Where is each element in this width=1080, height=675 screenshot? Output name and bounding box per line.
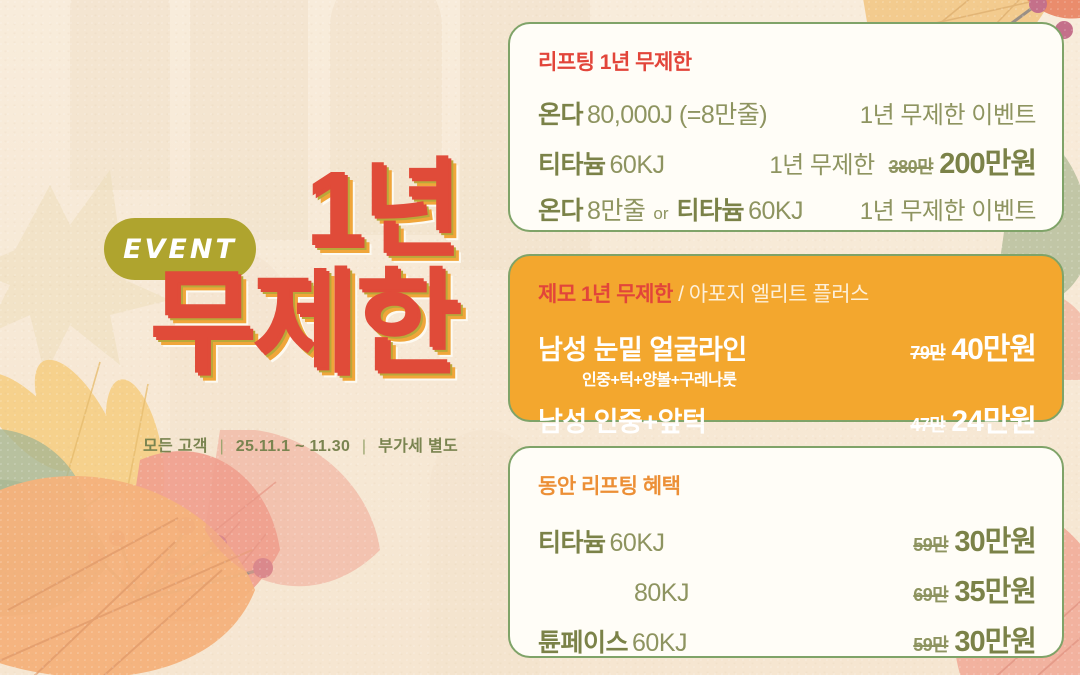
offer-row: 티타늄 60KJ 1년 무제한 380만 200만원 — [538, 140, 1036, 182]
offer-spec: 80,000J (=8만줄) — [587, 95, 767, 131]
headline-line-2: 무제한 — [0, 270, 458, 377]
offer-name: 튠페이스 — [538, 623, 628, 659]
card-rows-hair-removal: 남성 눈밑 얼굴라인 79만 40만원 인중+턱+양볼+구레나룻 남성 인중+앞… — [538, 318, 1036, 440]
offer-new-price: 35만원 — [954, 668, 1036, 675]
offer-name: 남성 인중+앞턱 — [538, 400, 706, 439]
meta-separator-1: | — [213, 438, 231, 455]
offer-new-price: 30만원 — [954, 518, 1036, 560]
offer-note: 1년 무제한 — [769, 145, 874, 180]
offer-row: 80KJ 69만 35만원 — [538, 568, 1036, 610]
meta-separator-2: | — [355, 438, 373, 455]
meta-period: 25.11.1 ~ 11.30 — [236, 438, 350, 455]
offer-spec: 60KJ — [632, 629, 687, 658]
offer-new-price: 35만원 — [954, 568, 1036, 610]
card-title-main: 리프팅 1년 무제한 — [538, 51, 692, 74]
offer-row: 튠페이스 60KJ 59만 30만원 — [538, 618, 1036, 660]
offer-card-lifting: 리프팅 1년 무제한 온다 80,000J (=8만줄) 1년 무제한 이벤트 … — [508, 22, 1064, 232]
offer-conjunction: or — [653, 204, 668, 224]
offer-name: 온다 — [538, 95, 583, 131]
offer-new-price: 200만원 — [939, 140, 1036, 182]
card-title-hair-removal: 제모 1년 무제한 / 아포지 엘리트 플러스 — [538, 278, 1036, 308]
offer-spec-alt: 60KJ — [748, 197, 803, 226]
offer-spec: 80KJ — [634, 579, 689, 608]
offer-card-anti-aging: 동안 리프팅 혜택 티타늄 60KJ 59만 30만원 8 — [508, 446, 1064, 658]
promo-banner: EVENT 1년 무제한 모든 고객 | 25.11.1 ~ 11.30 | 부… — [0, 0, 1080, 675]
offer-note: 1년 무제한 이벤트 — [860, 95, 1036, 130]
meta-tax: 부가세 별도 — [378, 438, 458, 455]
offer-old-price: 79만 — [910, 339, 945, 365]
meta-target: 모든 고객 — [143, 438, 208, 455]
offer-old-price: 69만 — [913, 581, 948, 607]
offer-new-price: 40만원 — [951, 324, 1036, 368]
offer-name: 티타늄 — [538, 145, 606, 181]
offer-note: 1년 무제한 이벤트 — [860, 191, 1036, 226]
card-rows-lifting: 온다 80,000J (=8만줄) 1년 무제한 이벤트 티타늄 60KJ 1년… — [538, 86, 1036, 227]
hero-section: EVENT 1년 무제한 모든 고객 | 25.11.1 ~ 11.30 | 부… — [0, 0, 500, 675]
offer-row: 80KJ 69만 35만원 — [538, 668, 1036, 675]
offer-old-price: 47만 — [910, 411, 945, 437]
offer-row: 티타늄 60KJ 59만 30만원 — [538, 518, 1036, 560]
offer-name: 남성 눈밑 얼굴라인 — [538, 328, 747, 367]
page-title: 1년 무제한 — [0, 160, 480, 377]
offer-name-alt: 티타늄 — [677, 191, 745, 227]
offer-card-hair-removal: 제모 1년 무제한 / 아포지 엘리트 플러스 남성 눈밑 얼굴라인 79만 4… — [508, 254, 1064, 422]
offer-old-price: 59만 — [913, 631, 948, 657]
offer-row: 온다 8만줄 or 티타늄 60KJ 1년 무제한 이벤트 — [538, 191, 1036, 227]
card-title-main: 동안 리프팅 혜택 — [538, 475, 680, 498]
card-title-suffix: / 아포지 엘리트 플러스 — [673, 283, 869, 306]
offer-spec: 8만줄 — [587, 191, 645, 227]
offer-subnote: 인중+턱+양볼+구레나룻 — [538, 366, 1036, 390]
event-meta: 모든 고객 | 25.11.1 ~ 11.30 | 부가세 별도 — [0, 432, 480, 456]
offer-name: 티타늄 — [538, 523, 606, 559]
card-title-lifting: 리프팅 1년 무제한 — [538, 46, 1036, 76]
offer-spec: 60KJ — [610, 529, 665, 558]
offer-row: 남성 눈밑 얼굴라인 79만 40만원 — [538, 324, 1036, 368]
offer-row: 남성 인중+앞턱 47만 24만원 — [538, 396, 1036, 440]
offer-name: 온다 — [538, 191, 583, 227]
offer-old-price: 59만 — [913, 531, 948, 557]
card-title-anti-aging: 동안 리프팅 혜택 — [538, 470, 1036, 500]
headline-line-1: 1년 — [0, 160, 458, 260]
offer-new-price: 24만원 — [951, 396, 1036, 440]
offer-cards: 리프팅 1년 무제한 온다 80,000J (=8만줄) 1년 무제한 이벤트 … — [508, 22, 1064, 658]
offer-new-price: 30만원 — [954, 618, 1036, 660]
card-rows-anti-aging: 티타늄 60KJ 59만 30만원 80KJ 69만 35만 — [538, 510, 1036, 675]
offer-row: 온다 80,000J (=8만줄) 1년 무제한 이벤트 — [538, 95, 1036, 131]
offer-old-price: 380만 — [889, 153, 934, 179]
card-title-main: 제모 1년 무제한 — [538, 283, 673, 306]
offer-spec: 60KJ — [610, 151, 665, 180]
